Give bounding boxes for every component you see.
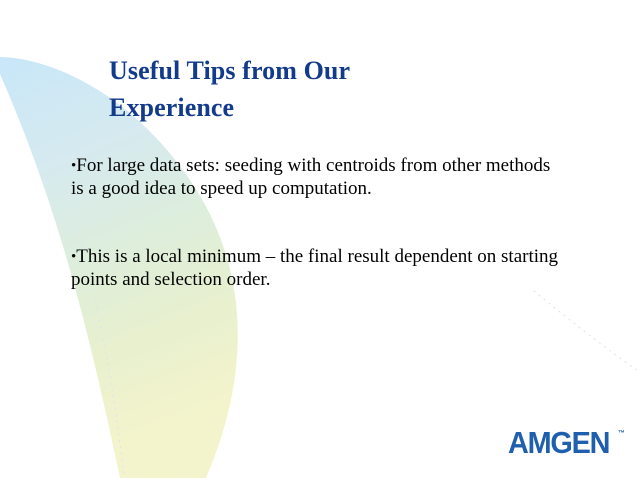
presentation-slide: Useful Tips from Our Experience •For lar…: [0, 0, 640, 480]
bullet-item-text: For large data sets: seeding with centro…: [71, 155, 550, 199]
bullet-item: •For large data sets: seeding with centr…: [71, 154, 566, 200]
slide-title: Useful Tips from Our Experience: [109, 52, 569, 126]
amgen-logo-wordmark: AMGEN: [508, 428, 609, 458]
dotted-curve-right: [534, 291, 640, 372]
bullet-item-text: This is a local minimum – the final resu…: [71, 246, 558, 290]
bullet-item: •This is a local minimum – the final res…: [71, 245, 566, 291]
trademark-symbol: ™: [618, 430, 625, 437]
amgen-logo: AMGEN ™: [508, 428, 625, 458]
slide-title-line-1: Useful Tips from Our: [109, 52, 569, 89]
slide-title-line-2: Experience: [109, 89, 569, 126]
slide-body: •For large data sets: seeding with centr…: [71, 154, 566, 291]
